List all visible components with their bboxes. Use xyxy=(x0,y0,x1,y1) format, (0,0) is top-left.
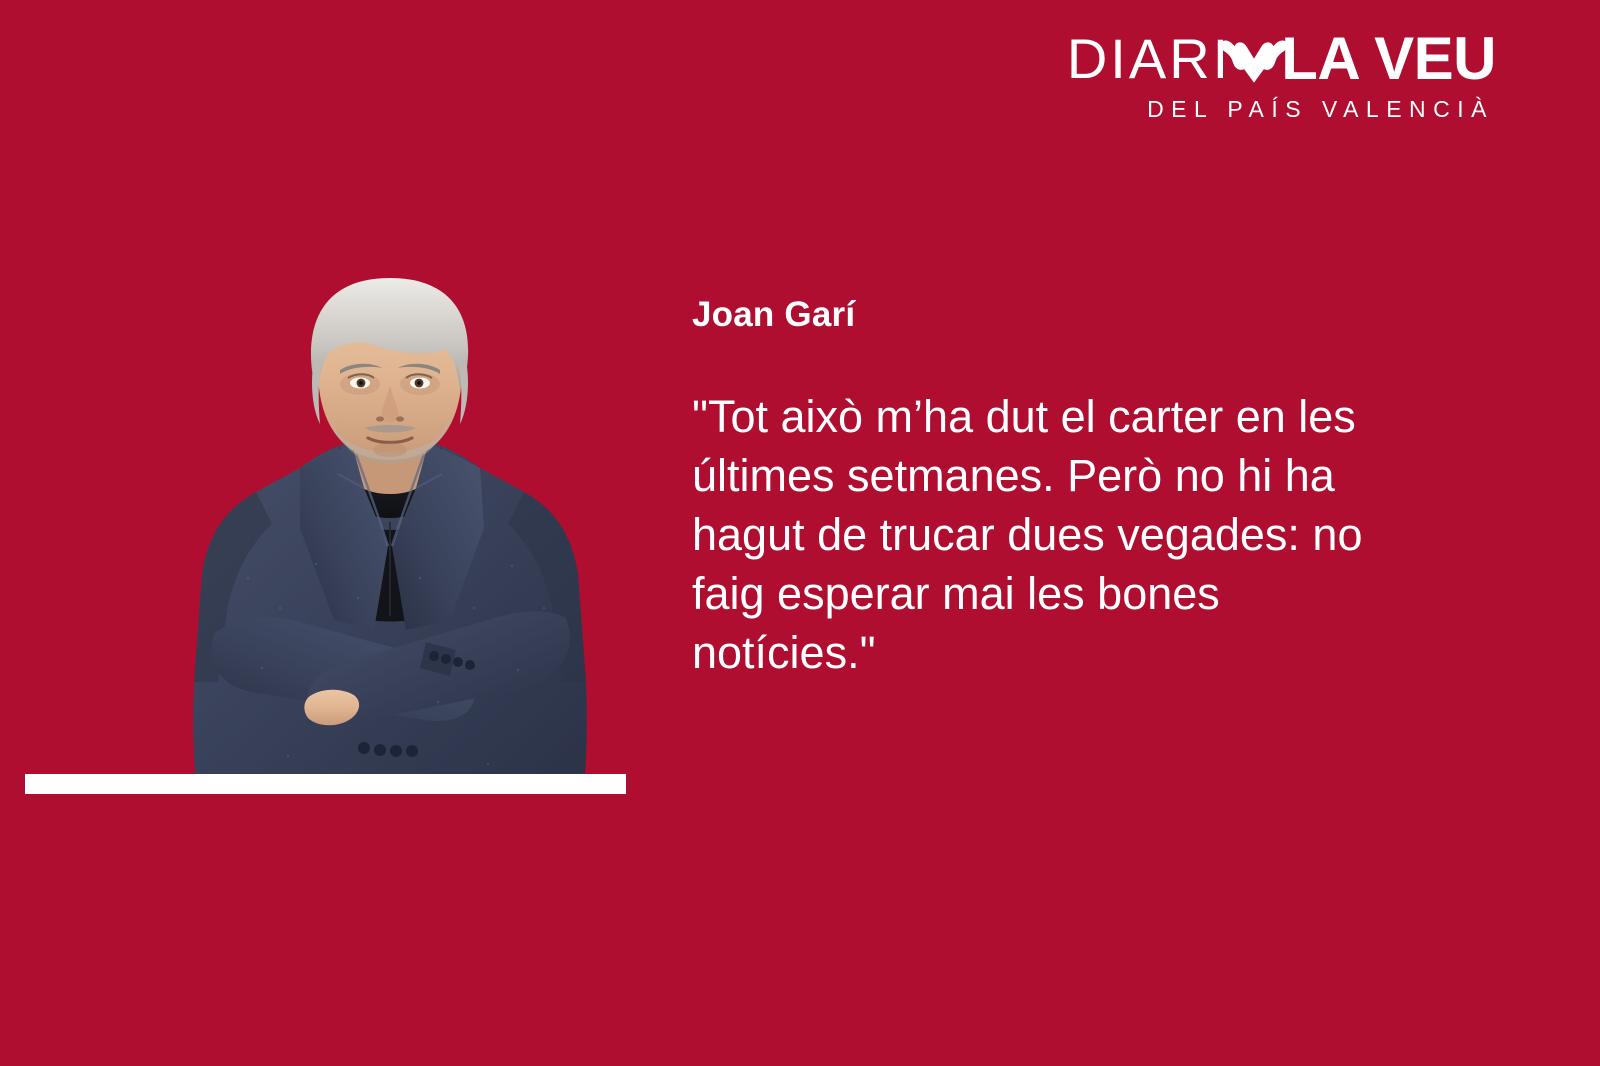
author-portrait xyxy=(188,278,592,790)
quote-card: DIARI LA VEU DEL PAÍS VALENCIÀ xyxy=(0,0,1600,1066)
author-name: Joan Garí xyxy=(692,296,1452,335)
site-logo[interactable]: DIARI LA VEU DEL PAÍS VALENCIÀ xyxy=(1067,28,1496,121)
white-rule-divider xyxy=(25,774,626,794)
logo-subtitle: DEL PAÍS VALENCIÀ xyxy=(1147,98,1494,121)
bat-icon xyxy=(1217,32,1291,86)
logo-wordmark-row: DIARI LA VEU xyxy=(1067,28,1496,90)
logo-word-laveu: LA VEU xyxy=(1281,29,1496,89)
logo-word-diari: DIARI xyxy=(1067,31,1231,87)
quote-text: "Tot això m’ha dut el carter en les últi… xyxy=(692,387,1452,682)
quote-text-block: Joan Garí "Tot això m’ha dut el carter e… xyxy=(692,296,1452,682)
